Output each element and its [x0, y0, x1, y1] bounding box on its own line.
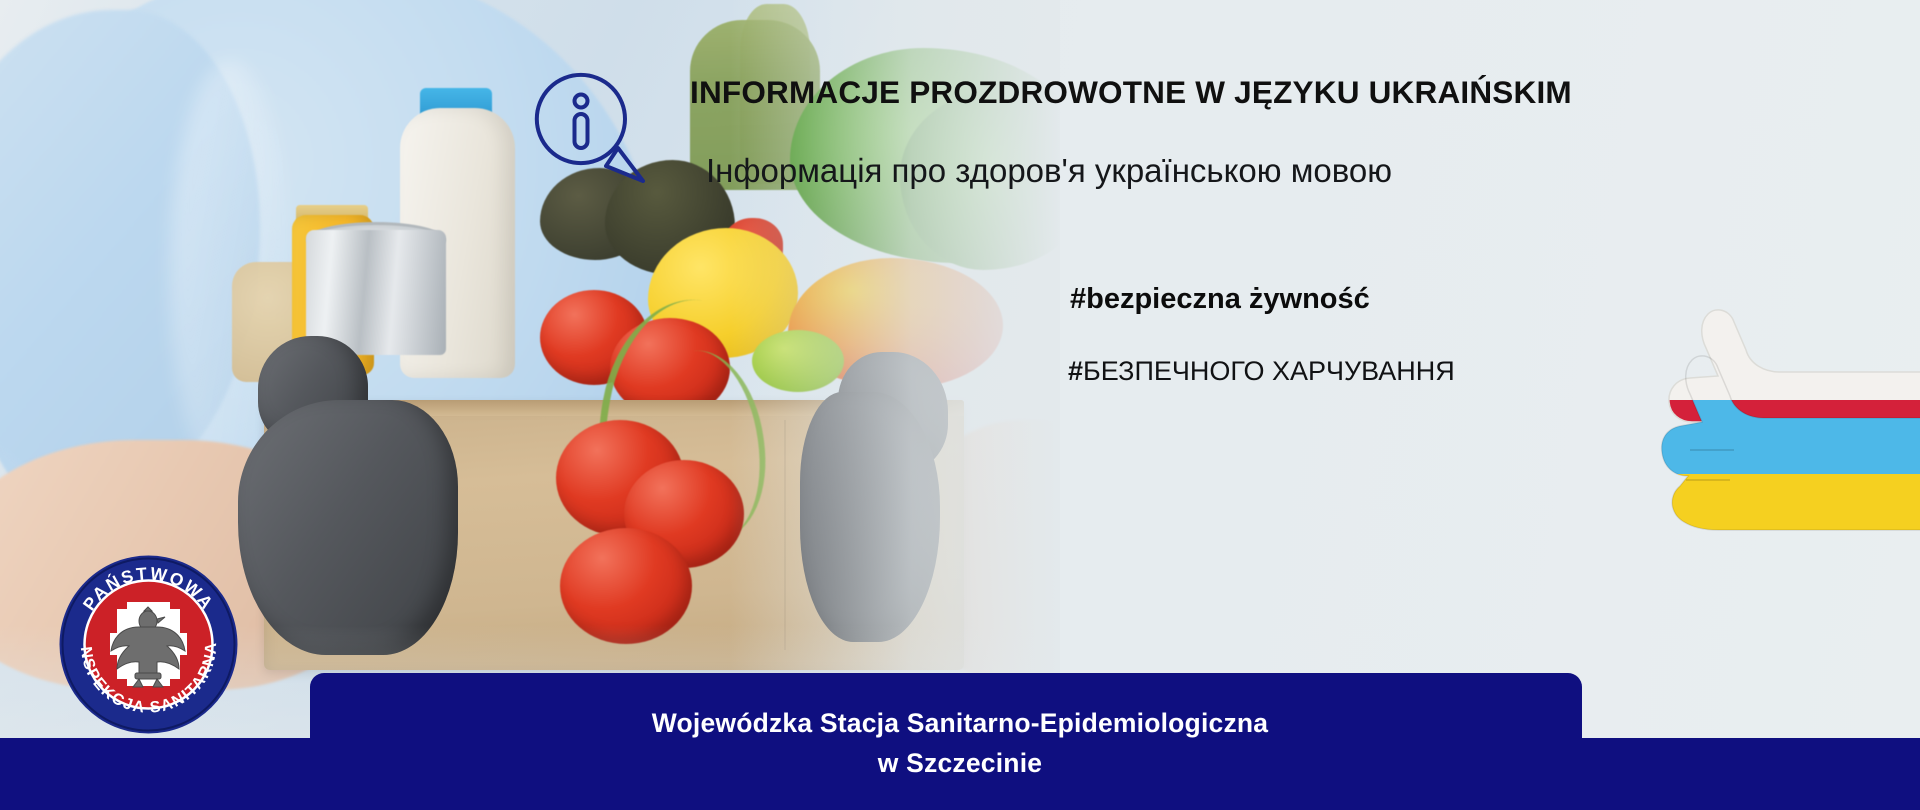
- page-title: INFORMACJE PROZDROWOTNE W JĘZYKU UKRAIŃS…: [690, 74, 1800, 111]
- health-information-banner: INFORMACJE PROZDROWOTNE W JĘZYKU UKRAIŃS…: [0, 0, 1920, 810]
- organization-line-1: Wojewódzka Stacja Sanitarno-Epidemiologi…: [0, 703, 1920, 743]
- hashtag-ukrainian: #БЕЗПЕЧНОГО ХАРЧУВАННЯ: [1068, 356, 1455, 387]
- hashtag-polish: #bezpieczna żywność: [1070, 283, 1370, 316]
- info-speech-bubble-icon: [522, 62, 652, 187]
- organization-line-2: w Szczecinie: [0, 743, 1920, 783]
- hashtag-ukrainian-label: БЕЗПЕЧНОГО ХАРЧУВАННЯ: [1083, 356, 1455, 386]
- organization-name: Wojewódzka Stacja Sanitarno-Epidemiologi…: [0, 703, 1920, 783]
- hashtag-symbol: #: [1068, 356, 1083, 386]
- left-gloved-hand: [238, 400, 458, 655]
- thumbs-up-flag-hands-icon: [1660, 300, 1920, 550]
- page-subtitle: Інформація про здоров'я українською мово…: [706, 152, 1826, 190]
